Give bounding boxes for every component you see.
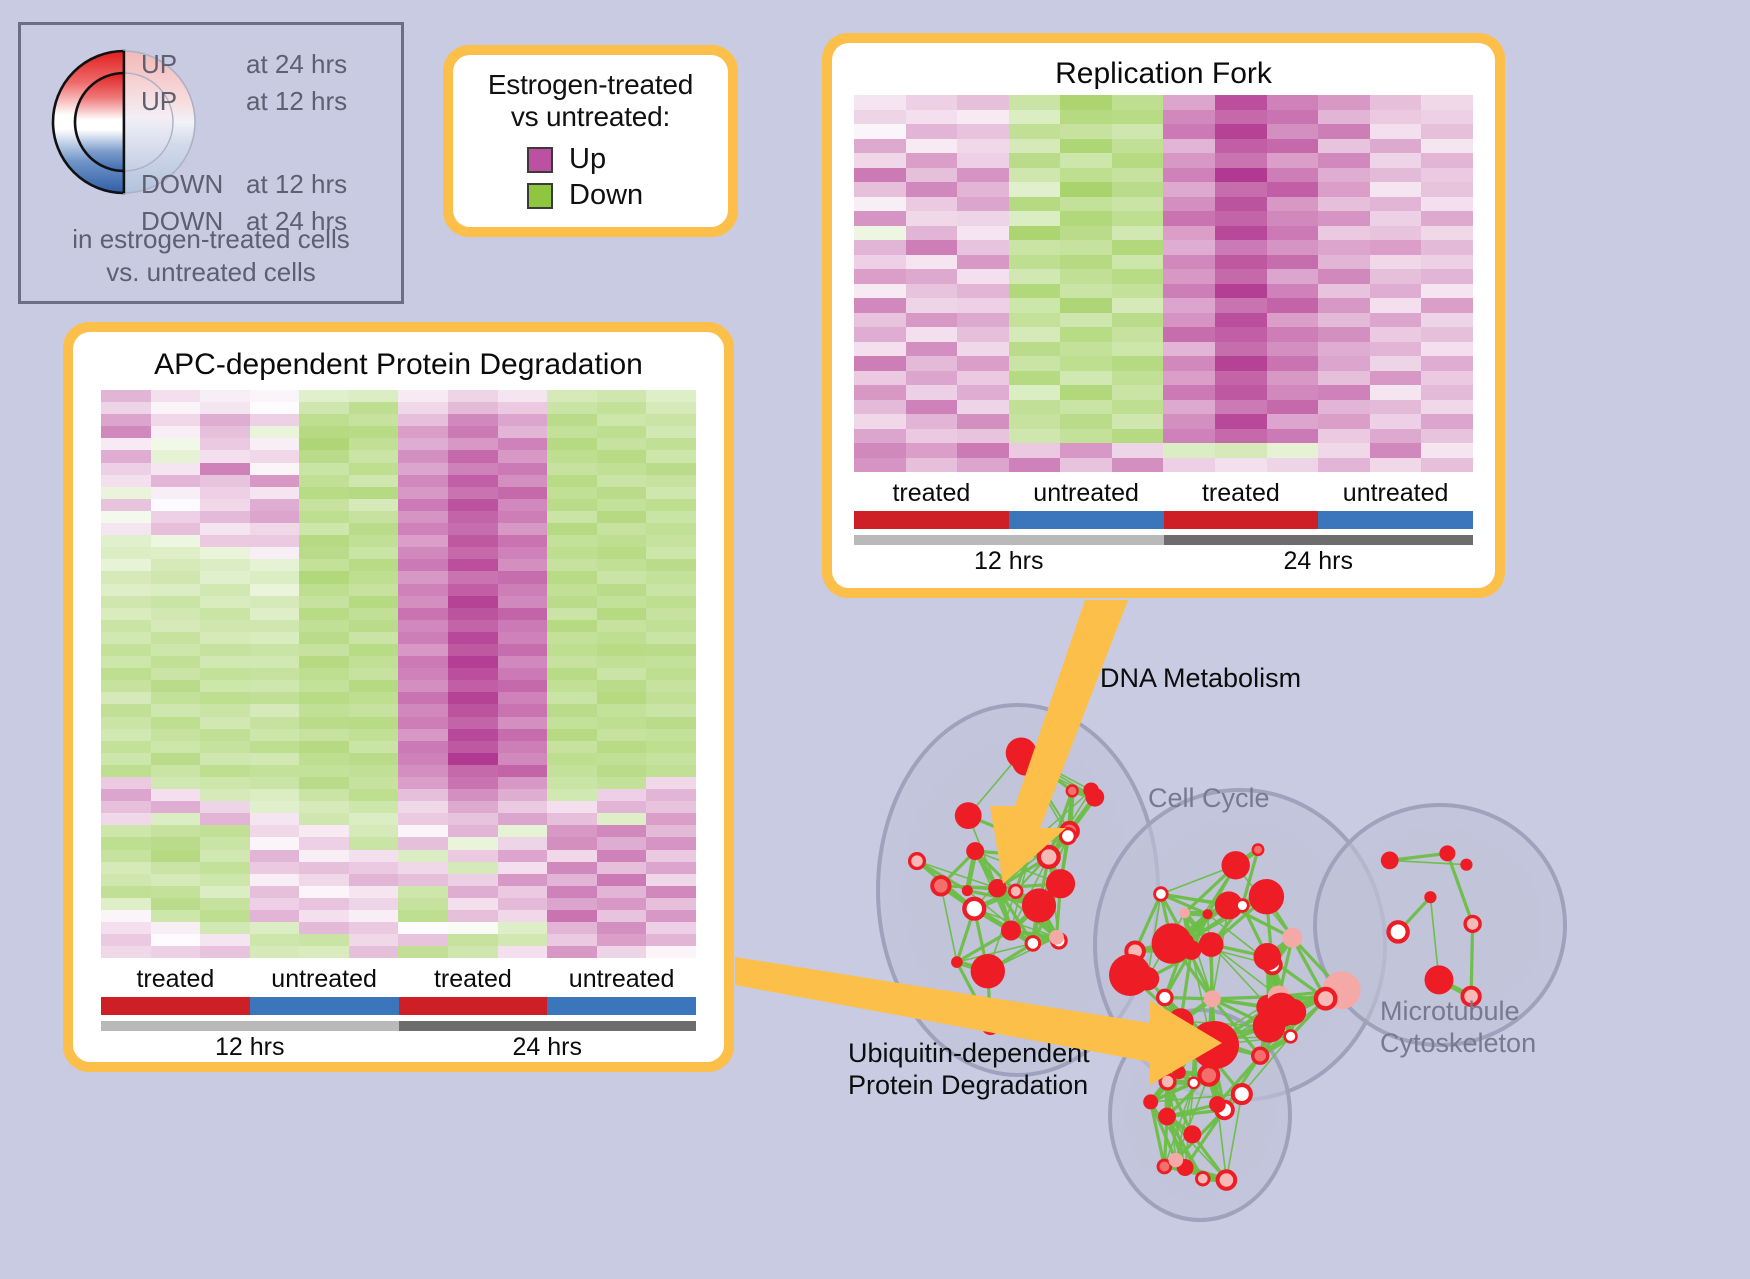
heatmap-cell <box>1009 124 1061 139</box>
heatmap-cell <box>1215 371 1267 386</box>
heatmap-cell <box>448 765 498 777</box>
network-node <box>1189 1078 1199 1088</box>
heatmap-cell <box>1318 255 1370 270</box>
network-node <box>1253 1048 1268 1063</box>
time-label: 24 hrs <box>399 1033 697 1062</box>
heatmap-cell <box>1370 95 1422 110</box>
heatmap-cell <box>1421 385 1473 400</box>
heatmap-cell <box>1267 298 1319 313</box>
heatmap-cell <box>906 385 958 400</box>
heatmap-cell <box>1009 313 1061 328</box>
heatmap-cell <box>1318 356 1370 371</box>
heatmap-cell <box>151 886 201 898</box>
heatmap-cell <box>1163 429 1215 444</box>
heatmap-cell <box>1163 284 1215 299</box>
heatmap-cell <box>151 777 201 789</box>
heatmap-cell <box>1318 168 1370 183</box>
heatmap-cell <box>448 777 498 789</box>
heatmap-cell <box>646 620 696 632</box>
heatmap-cell <box>101 547 151 559</box>
heatmap-cell <box>250 850 300 862</box>
heatmap-cell <box>1163 240 1215 255</box>
network-edge <box>1471 924 1473 997</box>
heatmap-cell <box>299 414 349 426</box>
heatmap-cell <box>1215 443 1267 458</box>
heatmap-cell <box>349 450 399 462</box>
condition-bar-segment <box>854 511 1009 529</box>
heatmap-cell <box>200 801 250 813</box>
heatmap-cell <box>1318 429 1370 444</box>
condition-bar-segment <box>1318 511 1473 529</box>
heatmap-cell <box>1421 298 1473 313</box>
heatmap-cell <box>1370 342 1422 357</box>
ubiquitin-line1: Ubiquitin-dependent <box>848 1037 1090 1069</box>
heatmap-cell <box>1112 327 1164 342</box>
network-node <box>971 954 1005 988</box>
heatmap-cell <box>547 910 597 922</box>
heatmap-cell <box>151 753 201 765</box>
heatmap-cell <box>1060 226 1112 241</box>
replication-heatmap <box>854 95 1473 472</box>
heatmap-cell <box>349 801 399 813</box>
key-time-label: at 12 hrs <box>246 169 347 200</box>
heatmap-cell <box>597 499 647 511</box>
heatmap-cell <box>151 438 201 450</box>
heatmap-cell <box>597 692 647 704</box>
heatmap-cell <box>646 523 696 535</box>
heatmap-cell <box>101 571 151 583</box>
heatmap-cell <box>101 559 151 571</box>
heatmap-cell <box>448 850 498 862</box>
heatmap-cell <box>200 414 250 426</box>
heatmap-cell <box>1267 110 1319 125</box>
heatmap-cell <box>854 269 906 284</box>
heatmap-cell <box>151 559 201 571</box>
heatmap-cell <box>1215 153 1267 168</box>
heatmap-cell <box>151 801 201 813</box>
heatmap-cell <box>646 741 696 753</box>
heatmap-cell <box>398 789 448 801</box>
heatmap-cell <box>1421 240 1473 255</box>
heatmap-cell <box>1215 284 1267 299</box>
heatmap-cell <box>250 559 300 571</box>
heatmap-cell <box>547 765 597 777</box>
heatmap-cell <box>151 535 201 547</box>
heatmap-cell <box>1370 139 1422 154</box>
heatmap-cell <box>448 934 498 946</box>
heatmap-cell <box>448 644 498 656</box>
heatmap-cell <box>1163 342 1215 357</box>
heatmap-cell <box>448 390 498 402</box>
heatmap-cell <box>349 571 399 583</box>
heatmap-cell <box>547 511 597 523</box>
heatmap-cell <box>1060 255 1112 270</box>
apc-panel: APC-dependent Protein Degradation treate… <box>63 322 734 1072</box>
heatmap-cell <box>398 886 448 898</box>
heatmap-cell <box>646 825 696 837</box>
network-node <box>962 885 973 896</box>
heatmap-cell <box>1267 211 1319 226</box>
heatmap-cell <box>498 668 548 680</box>
network-node <box>1199 932 1224 957</box>
heatmap-cell <box>299 729 349 741</box>
heatmap-cell <box>299 608 349 620</box>
heatmap-cell <box>1215 356 1267 371</box>
color-key-caption-line2: vs. untreated cells <box>21 256 401 289</box>
heatmap-cell <box>250 608 300 620</box>
heatmap-cell <box>498 862 548 874</box>
panel-title-replication: Replication Fork <box>832 57 1495 91</box>
heatmap-cell <box>1112 284 1164 299</box>
legend-title: Estrogen-treated vs untreated: <box>469 69 712 134</box>
heatmap-cell <box>299 620 349 632</box>
heatmap-cell <box>151 874 201 886</box>
network-node <box>1389 922 1408 941</box>
heatmap-cell <box>448 729 498 741</box>
heatmap-cell <box>646 632 696 644</box>
heatmap-cell <box>151 511 201 523</box>
network-node <box>1209 1096 1226 1113</box>
heatmap-cell <box>250 934 300 946</box>
heatmap-cell <box>200 862 250 874</box>
heatmap-cell <box>299 475 349 487</box>
heatmap-cell <box>1267 95 1319 110</box>
heatmap-cell <box>498 704 548 716</box>
heatmap-cell <box>398 620 448 632</box>
heatmap-cell <box>597 910 647 922</box>
heatmap-cell <box>101 717 151 729</box>
network-node <box>1465 916 1480 931</box>
heatmap-cell <box>250 910 300 922</box>
heatmap-cell <box>1112 443 1164 458</box>
heatmap-cell <box>547 850 597 862</box>
heatmap-cell <box>1421 153 1473 168</box>
heatmap-cell <box>854 153 906 168</box>
heatmap-cell <box>250 946 300 958</box>
heatmap-cell <box>1370 356 1422 371</box>
heatmap-cell <box>957 110 1009 125</box>
condition-label: treated <box>854 479 1009 508</box>
heatmap-cell <box>448 922 498 934</box>
heatmap-cell <box>398 777 448 789</box>
heatmap-cell <box>299 801 349 813</box>
network-node <box>1061 829 1076 844</box>
heatmap-cell <box>349 414 399 426</box>
heatmap-cell <box>854 298 906 313</box>
cluster-label-microtubule: Microtubule Cytoskeleton <box>1380 995 1536 1060</box>
heatmap-cell <box>1163 443 1215 458</box>
heatmap-cell <box>448 499 498 511</box>
heatmap-cell <box>299 656 349 668</box>
heatmap-cell <box>101 922 151 934</box>
heatmap-cell <box>547 922 597 934</box>
heatmap-cell <box>957 197 1009 212</box>
heatmap-cell <box>854 124 906 139</box>
legend-item-up: Up <box>527 142 712 178</box>
network-node <box>1183 1125 1201 1143</box>
heatmap-cell <box>349 559 399 571</box>
network-node <box>1022 888 1056 922</box>
color-key-caption: in estrogen-treated cells vs. untreated … <box>21 223 401 290</box>
heatmap-cell <box>398 765 448 777</box>
heatmap-cell <box>250 898 300 910</box>
condition-bar-segment <box>399 997 548 1015</box>
heatmap-cell <box>646 862 696 874</box>
heatmap-cell <box>299 789 349 801</box>
heatmap-cell <box>597 777 647 789</box>
heatmap-cell <box>1421 414 1473 429</box>
heatmap-cell <box>1267 313 1319 328</box>
heatmap-cell <box>448 535 498 547</box>
heatmap-cell <box>498 934 548 946</box>
heatmap-cell <box>1215 139 1267 154</box>
heatmap-cell <box>597 765 647 777</box>
heatmap-cell <box>1215 269 1267 284</box>
heatmap-cell <box>151 668 201 680</box>
heatmap-cell <box>498 390 548 402</box>
heatmap-cell <box>299 765 349 777</box>
heatmap-cell <box>250 475 300 487</box>
heatmap-cell <box>1060 182 1112 197</box>
heatmap-cell <box>448 692 498 704</box>
apc-condition-bar <box>101 997 696 1015</box>
condition-label: treated <box>399 965 548 994</box>
heatmap-cell <box>646 717 696 729</box>
heatmap-cell <box>498 910 548 922</box>
heatmap-cell <box>299 886 349 898</box>
heatmap-cell <box>597 813 647 825</box>
heatmap-cell <box>200 692 250 704</box>
microtubule-line1: Microtubule <box>1380 995 1536 1027</box>
heatmap-cell <box>101 499 151 511</box>
heatmap-cell <box>597 511 647 523</box>
heatmap-cell <box>646 414 696 426</box>
heatmap-cell <box>547 596 597 608</box>
network-node <box>1316 989 1335 1008</box>
heatmap-cell <box>1215 240 1267 255</box>
heatmap-cell <box>349 717 399 729</box>
heatmap-cell <box>151 680 201 692</box>
heatmap-cell <box>906 342 958 357</box>
heatmap-cell <box>597 801 647 813</box>
heatmap-cell <box>498 753 548 765</box>
time-bar-segment <box>101 1021 399 1031</box>
heatmap-cell <box>597 608 647 620</box>
heatmap-cell <box>854 139 906 154</box>
heatmap-cell <box>498 680 548 692</box>
heatmap-cell <box>101 680 151 692</box>
heatmap-cell <box>597 704 647 716</box>
heatmap-cell <box>547 402 597 414</box>
heatmap-cell <box>1318 226 1370 241</box>
heatmap-cell <box>1163 356 1215 371</box>
heatmap-cell <box>597 596 647 608</box>
heatmap-cell <box>646 898 696 910</box>
heatmap-cell <box>250 596 300 608</box>
heatmap-cell <box>547 414 597 426</box>
heatmap-cell <box>906 356 958 371</box>
heatmap-cell <box>1060 342 1112 357</box>
heatmap-cell <box>101 511 151 523</box>
microtubule-line2: Cytoskeleton <box>1380 1027 1536 1059</box>
heatmap-cell <box>1318 284 1370 299</box>
heatmap-cell <box>1421 284 1473 299</box>
heatmap-cell <box>957 153 1009 168</box>
heatmap-cell <box>398 390 448 402</box>
heatmap-cell <box>1267 385 1319 400</box>
heatmap-cell <box>200 535 250 547</box>
heatmap-cell <box>1060 313 1112 328</box>
network-node <box>1026 937 1040 951</box>
heatmap-cell <box>1421 443 1473 458</box>
heatmap-cell <box>498 898 548 910</box>
network-node <box>1143 1094 1158 1109</box>
heatmap-cell <box>1009 139 1061 154</box>
heatmap-cell <box>957 414 1009 429</box>
heatmap-cell <box>101 704 151 716</box>
heatmap-cell <box>398 414 448 426</box>
heatmap-cell <box>349 729 399 741</box>
heatmap-cell <box>299 704 349 716</box>
heatmap-cell <box>101 390 151 402</box>
heatmap-cell <box>398 692 448 704</box>
heatmap-cell <box>448 801 498 813</box>
network-node <box>1109 954 1151 996</box>
heatmap-cell <box>854 168 906 183</box>
heatmap-cell <box>299 825 349 837</box>
heatmap-cell <box>646 813 696 825</box>
heatmap-cell <box>1318 124 1370 139</box>
heatmap-cell <box>398 862 448 874</box>
heatmap-cell <box>1421 313 1473 328</box>
heatmap-cell <box>597 632 647 644</box>
heatmap-cell <box>299 922 349 934</box>
apc-time-labels: 12 hrs 24 hrs <box>101 1033 696 1062</box>
heatmap-cell <box>151 850 201 862</box>
heatmap-cell <box>1215 226 1267 241</box>
heatmap-cell <box>547 644 597 656</box>
heatmap-cell <box>498 584 548 596</box>
legend-swatch-up-icon <box>527 147 553 173</box>
network-node <box>1021 831 1044 854</box>
heatmap-cell <box>547 390 597 402</box>
heatmap-cell <box>250 825 300 837</box>
heatmap-cell <box>299 511 349 523</box>
heatmap-cell <box>906 313 958 328</box>
heatmap-cell <box>448 475 498 487</box>
legend-swatch-down-icon <box>527 183 553 209</box>
heatmap-cell <box>101 463 151 475</box>
heatmap-cell <box>646 475 696 487</box>
heatmap-cell <box>498 511 548 523</box>
heatmap-cell <box>101 668 151 680</box>
heatmap-cell <box>151 620 201 632</box>
heatmap-cell <box>597 559 647 571</box>
heatmap-cell <box>101 608 151 620</box>
heatmap-cell <box>547 717 597 729</box>
heatmap-cell <box>957 327 1009 342</box>
heatmap-cell <box>1163 414 1215 429</box>
heatmap-cell <box>1009 284 1061 299</box>
heatmap-cell <box>1112 255 1164 270</box>
heatmap-cell <box>1112 240 1164 255</box>
heatmap-cell <box>448 668 498 680</box>
time-label: 12 hrs <box>854 547 1164 576</box>
heatmap-cell <box>448 680 498 692</box>
heatmap-cell <box>1215 298 1267 313</box>
heatmap-cell <box>1421 342 1473 357</box>
heatmap-cell <box>1267 414 1319 429</box>
heatmap-cell <box>101 438 151 450</box>
heatmap-cell <box>398 825 448 837</box>
heatmap-cell <box>547 438 597 450</box>
heatmap-cell <box>448 862 498 874</box>
heatmap-cell <box>448 511 498 523</box>
heatmap-cell <box>200 596 250 608</box>
heatmap-cell <box>1060 400 1112 415</box>
heatmap-cell <box>1318 197 1370 212</box>
heatmap-cell <box>200 656 250 668</box>
heatmap-cell <box>854 284 906 299</box>
heatmap-cell <box>1267 356 1319 371</box>
apc-heatmap-wrap: treated untreated treated untreated 12 h… <box>73 390 724 1062</box>
heatmap-cell <box>547 789 597 801</box>
heatmap-cell <box>1112 168 1164 183</box>
heatmap-cell <box>646 535 696 547</box>
heatmap-cell <box>854 342 906 357</box>
heatmap-cell <box>250 704 300 716</box>
heatmap-cell <box>1318 342 1370 357</box>
heatmap-cell <box>1421 458 1473 473</box>
heatmap-cell <box>1112 371 1164 386</box>
heatmap-cell <box>646 886 696 898</box>
time-label: 12 hrs <box>101 1033 399 1062</box>
heatmap-cell <box>498 608 548 620</box>
heatmap-cell <box>1267 168 1319 183</box>
heatmap-cell <box>1267 182 1319 197</box>
heatmap-cell <box>448 596 498 608</box>
color-key-row: DOWN at 12 hrs <box>141 169 401 206</box>
heatmap-cell <box>250 426 300 438</box>
heatmap-cell <box>1215 429 1267 444</box>
heatmap-cell <box>1370 182 1422 197</box>
network-node <box>1253 845 1263 855</box>
heatmap-cell <box>1163 327 1215 342</box>
heatmap-cell <box>101 414 151 426</box>
heatmap-cell <box>151 837 201 849</box>
heatmap-cell <box>597 523 647 535</box>
heatmap-cell <box>398 450 448 462</box>
heatmap-cell <box>547 487 597 499</box>
network-node <box>1160 1074 1175 1089</box>
heatmap-cell <box>597 680 647 692</box>
condition-label: treated <box>101 965 250 994</box>
cluster-label-cell-cycle: Cell Cycle <box>1148 782 1270 814</box>
heatmap-cell <box>547 499 597 511</box>
heatmap-cell <box>101 692 151 704</box>
heatmap-cell <box>646 571 696 583</box>
heatmap-cell <box>1370 269 1422 284</box>
heatmap-cell <box>101 729 151 741</box>
heatmap-cell <box>151 426 201 438</box>
heatmap-cell <box>151 487 201 499</box>
heatmap-cell <box>1421 356 1473 371</box>
heatmap-cell <box>597 668 647 680</box>
heatmap-cell <box>1060 211 1112 226</box>
heatmap-cell <box>200 729 250 741</box>
heatmap-cell <box>597 656 647 668</box>
figure-canvas: UP at 24 hrs UP at 12 hrs DOWN at 12 hrs… <box>0 0 1750 1279</box>
